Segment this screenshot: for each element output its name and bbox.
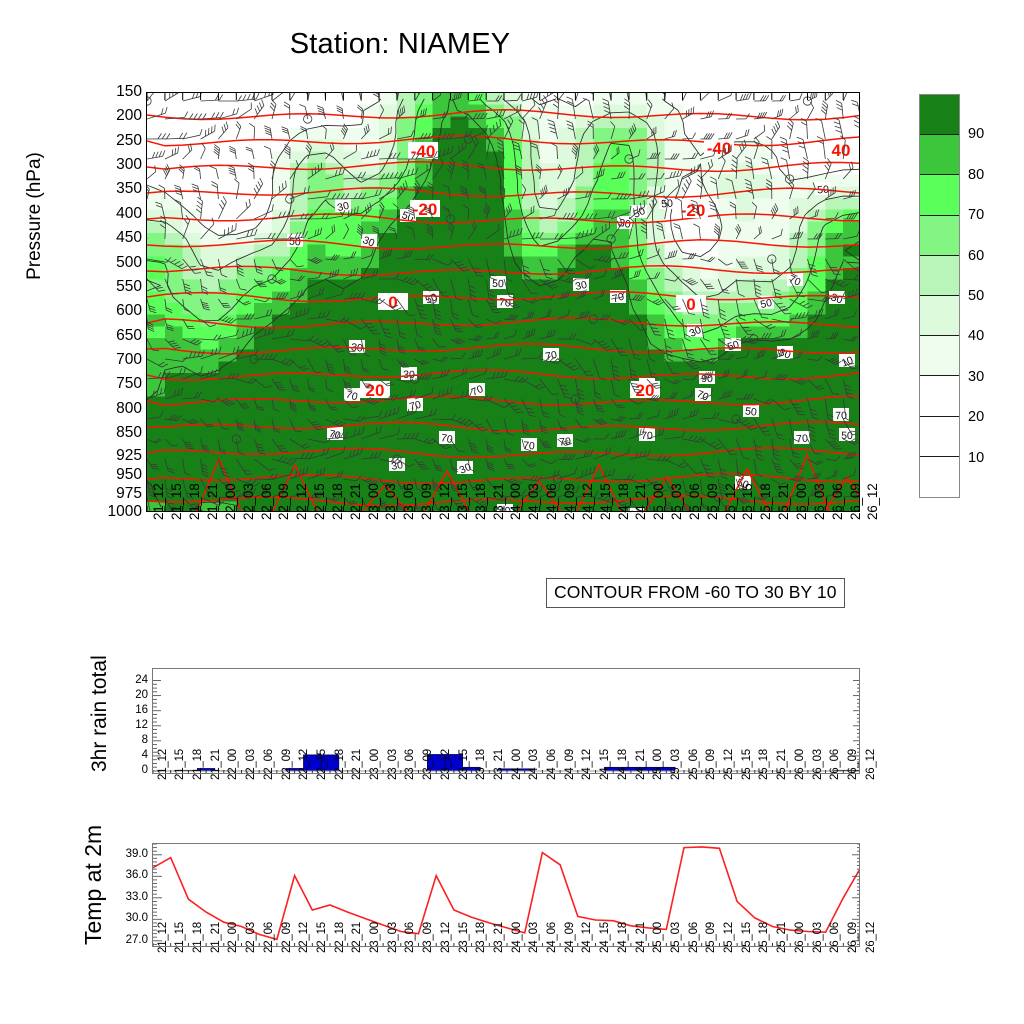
temp-x-tick: 22_03 (245, 922, 257, 953)
rain-x-tick: 25_03 (670, 749, 682, 780)
rain-x-tick: 23_18 (475, 749, 487, 780)
colorbar-tick: 90 (968, 126, 984, 142)
rain-x-tick: 24_18 (617, 749, 629, 780)
rain-x-tick: 26_06 (829, 749, 841, 780)
rain-x-tick: 25_12 (723, 749, 735, 780)
rain-y-tick: 12 (135, 719, 148, 731)
main-y-axis-title: Pressure (hPa) (24, 106, 46, 326)
main-x-tick: 21_18 (187, 483, 202, 520)
main-x-tick: 23_00 (366, 483, 381, 520)
rain-y-tick: 4 (142, 749, 148, 761)
temp-x-tick: 22_09 (281, 922, 293, 953)
temp-x-tick: 24_15 (599, 922, 611, 953)
main-y-tick: 400 (116, 205, 142, 223)
temp-x-tick: 21_15 (174, 922, 186, 953)
humidity-colorbar-labels: 908070605040302010 (968, 94, 1018, 498)
main-x-tick: 22_18 (330, 483, 345, 520)
main-x-tick: 21_21 (205, 483, 220, 520)
colorbar-band (920, 296, 959, 336)
svg-text:70: 70 (440, 432, 454, 446)
temp-x-tick: 22_06 (263, 922, 275, 953)
temp-x-tick: 23_09 (422, 922, 434, 953)
main-x-tick: 23_15 (455, 483, 470, 520)
rain-x-tick: 22_21 (351, 749, 363, 780)
temp-x-tick: 25_09 (705, 922, 717, 953)
temp-x-tick: 24_18 (617, 922, 629, 953)
svg-text:50: 50 (492, 278, 504, 290)
main-x-tick: 25_21 (776, 483, 791, 520)
temp-y-ticks (153, 844, 860, 947)
main-y-tick: 450 (116, 229, 142, 247)
colorbar-tick: 80 (968, 167, 984, 183)
temp-x-tick: 22_15 (316, 922, 328, 953)
main-x-tick: 24_21 (633, 483, 648, 520)
rain-x-tick: 22_00 (227, 749, 239, 780)
temp-x-tick: 22_18 (334, 922, 346, 953)
temp-x-tick: 26_09 (847, 922, 859, 953)
rain-x-tick: 23_09 (422, 749, 434, 780)
rain-x-tick: 22_18 (334, 749, 346, 780)
temp-x-tick: 22_21 (351, 922, 363, 953)
main-y-tick-labels: 1502002503003504004505005506006507007508… (96, 92, 142, 512)
rain-x-tick: 22_06 (263, 749, 275, 780)
svg-text:40: 40 (832, 141, 851, 160)
main-y-tick: 650 (116, 327, 142, 345)
humidity-colorbar (919, 94, 960, 498)
main-x-tick: 24_12 (580, 483, 595, 520)
temp-x-tick: 26_06 (829, 922, 841, 953)
temp-y-tick-labels: 27.030.033.036.039.0 (108, 843, 148, 947)
page-title: Station: NIAMEY (0, 28, 800, 61)
colorbar-band (920, 175, 959, 215)
main-y-tick: 800 (116, 400, 142, 418)
rain-y-tick: 20 (135, 689, 148, 701)
main-y-tick: 700 (116, 351, 142, 369)
main-x-tick: 23_06 (401, 483, 416, 520)
main-y-tick: 850 (116, 424, 142, 442)
rain-x-tick: 22_15 (316, 749, 328, 780)
main-x-tick: 23_09 (419, 483, 434, 520)
main-y-tick: 975 (116, 485, 142, 503)
rain-x-tick: 23_12 (440, 749, 452, 780)
temp-ticks (153, 943, 860, 947)
colorbar-band (920, 376, 959, 416)
svg-text:50: 50 (744, 405, 757, 418)
main-x-tick: 24_00 (508, 483, 523, 520)
rain-y-tick: 24 (135, 674, 148, 686)
temp-x-tick: 26_00 (794, 922, 806, 953)
svg-text:70: 70 (641, 430, 653, 442)
main-y-tick: 550 (116, 278, 142, 296)
temp-x-tick: 24_12 (581, 922, 593, 953)
temp-chart-panel (152, 843, 860, 947)
rain-y-tick: 16 (135, 704, 148, 716)
colorbar-tick: 40 (968, 328, 984, 344)
main-x-tick: 26_09 (848, 483, 863, 520)
temp-y-tick: 33.0 (126, 891, 148, 903)
sounding-cross-section-panel: 3050505050503050305030305070705070301070… (146, 92, 860, 512)
temp-x-tick: 23_15 (458, 922, 470, 953)
temp-chart-svg (153, 844, 860, 947)
rain-x-tick: 21_12 (157, 749, 169, 780)
main-x-tick: 23_03 (383, 483, 398, 520)
colorbar-band (920, 216, 959, 256)
colorbar-band (920, 336, 959, 376)
main-x-tick: 22_12 (294, 483, 309, 520)
temp-x-tick: 25_18 (758, 922, 770, 953)
rain-x-tick: 22_09 (281, 749, 293, 780)
rain-x-tick: 24_03 (528, 749, 540, 780)
rain-x-tick: 25_21 (776, 749, 788, 780)
main-x-tick: 24_03 (526, 483, 541, 520)
main-x-tick: 25_15 (740, 483, 755, 520)
main-y-tick: 300 (116, 156, 142, 174)
temp-x-tick: 25_06 (688, 922, 700, 953)
temp-x-tick: 25_15 (741, 922, 753, 953)
temp-y-tick: 27.0 (126, 934, 148, 946)
main-y-tick: 600 (116, 302, 142, 320)
main-x-tick: 23_18 (473, 483, 488, 520)
svg-text:0: 0 (388, 293, 397, 312)
rain-x-tick: 25_15 (741, 749, 753, 780)
temp-x-tick-labels: 21_1221_1521_1821_2122_0022_0322_0622_09… (152, 951, 860, 1024)
rain-x-tick: 21_21 (210, 749, 222, 780)
temp-x-tick: 26_03 (812, 922, 824, 953)
temp-y-tick: 30.0 (126, 912, 148, 924)
main-x-tick: 24_18 (616, 483, 631, 520)
main-x-tick: 25_03 (669, 483, 684, 520)
rain-x-tick: 22_03 (245, 749, 257, 780)
temp-x-tick: 22_00 (227, 922, 239, 953)
colorbar-tick: 50 (968, 288, 984, 304)
temp-x-tick: 24_06 (546, 922, 558, 953)
main-x-tick: 25_06 (687, 483, 702, 520)
temp-x-tick: 21_21 (210, 922, 222, 953)
temp-x-tick: 24_03 (528, 922, 540, 953)
rain-x-tick: 24_12 (581, 749, 593, 780)
temp-line (153, 847, 860, 940)
main-x-tick: 22_15 (312, 483, 327, 520)
main-x-tick: 24_15 (598, 483, 613, 520)
rain-x-tick: 25_00 (652, 749, 664, 780)
rain-x-tick: 25_06 (688, 749, 700, 780)
rain-x-tick: 24_15 (599, 749, 611, 780)
rain-x-tick: 26_09 (847, 749, 859, 780)
rain-x-tick: 23_06 (404, 749, 416, 780)
main-y-tick: 750 (116, 375, 142, 393)
svg-text:70: 70 (498, 296, 511, 310)
rain-x-tick: 23_15 (458, 749, 470, 780)
temp-x-tick: 25_03 (670, 922, 682, 953)
main-x-tick: 22_21 (348, 483, 363, 520)
main-x-tick: 22_06 (259, 483, 274, 520)
main-y-tick: 950 (116, 466, 142, 484)
rain-x-tick: 26_12 (865, 749, 877, 780)
rain-x-tick: 24_00 (511, 749, 523, 780)
svg-text:-20: -20 (681, 201, 706, 220)
main-x-tick: 22_00 (223, 483, 238, 520)
rain-x-tick: 25_09 (705, 749, 717, 780)
rain-y-tick-labels: 04812162024 (110, 668, 148, 774)
colorbar-tick: 60 (968, 248, 984, 264)
main-x-tick: 25_00 (651, 483, 666, 520)
main-x-tick: 26_12 (865, 483, 880, 520)
temp-y-axis-title: Temp at 2m (80, 825, 107, 945)
main-y-tick: 350 (116, 180, 142, 198)
svg-text:-40: -40 (707, 139, 732, 158)
rain-x-tick: 21_15 (174, 749, 186, 780)
main-y-tick: 500 (116, 254, 142, 272)
temp-x-tick: 22_12 (298, 922, 310, 953)
temp-x-tick: 23_00 (369, 922, 381, 953)
rain-x-tick: 24_06 (546, 749, 558, 780)
rain-x-tick: 26_00 (794, 749, 806, 780)
main-x-tick: 23_21 (491, 483, 506, 520)
main-y-tick: 250 (116, 132, 142, 150)
temp-y-tick: 36.0 (126, 869, 148, 881)
colorbar-tick: 10 (968, 450, 984, 466)
svg-text:30: 30 (390, 459, 404, 473)
main-y-tick: 150 (116, 83, 142, 101)
rain-x-tick: 21_18 (192, 749, 204, 780)
main-x-tick: 26_06 (830, 483, 845, 520)
rain-x-tick: 26_03 (812, 749, 824, 780)
temp-y-tick: 39.0 (126, 848, 148, 860)
rain-x-tick: 25_18 (758, 749, 770, 780)
rain-x-tick: 23_03 (387, 749, 399, 780)
rain-y-ticks (153, 681, 860, 772)
svg-text:70: 70 (523, 440, 536, 453)
temp-x-tick: 25_21 (776, 922, 788, 953)
main-y-tick: 200 (116, 107, 142, 125)
rain-y-tick: 8 (142, 734, 148, 746)
colorbar-band (920, 95, 959, 135)
main-x-tick: 25_12 (723, 483, 738, 520)
main-y-tick: 1000 (108, 503, 142, 521)
colorbar-band (920, 135, 959, 175)
colorbar-tick: 70 (968, 207, 984, 223)
colorbar-band (920, 417, 959, 457)
rain-x-tick: 24_09 (564, 749, 576, 780)
colorbar-tick: 20 (968, 409, 984, 425)
rain-x-tick: 23_00 (369, 749, 381, 780)
temp-x-tick: 23_03 (387, 922, 399, 953)
main-x-tick: 25_09 (705, 483, 720, 520)
meteogram-page: Station: NIAMEY Pressure (hPa) 150200250… (0, 0, 1024, 1024)
temp-x-tick: 25_12 (723, 922, 735, 953)
contour-note: CONTOUR FROM -60 TO 30 BY 10 (546, 578, 845, 608)
temp-x-tick: 21_18 (192, 922, 204, 953)
rain-x-tick: 22_12 (298, 749, 310, 780)
rain-y-axis-title: 3hr rain total (88, 655, 112, 772)
temp-x-tick: 24_00 (511, 922, 523, 953)
main-x-tick: 21_12 (151, 483, 166, 520)
temp-x-tick: 23_12 (440, 922, 452, 953)
temp-x-tick: 21_12 (157, 922, 169, 953)
svg-text:50: 50 (841, 430, 853, 442)
main-x-tick: 24_09 (562, 483, 577, 520)
main-x-tick: 23_12 (437, 483, 452, 520)
temp-x-tick: 23_18 (475, 922, 487, 953)
temp-x-tick: 26_12 (865, 922, 877, 953)
svg-text:70: 70 (796, 432, 809, 445)
main-plot-svg: 3050505050503050305030305070705070301070… (147, 93, 860, 512)
rain-x-tick: 23_21 (493, 749, 505, 780)
main-x-tick: 21_15 (169, 483, 184, 520)
colorbar-band (920, 457, 959, 497)
temp-x-tick: 24_09 (564, 922, 576, 953)
temp-x-tick: 24_21 (635, 922, 647, 953)
temp-x-tick: 23_06 (404, 922, 416, 953)
main-x-tick: 25_18 (758, 483, 773, 520)
temp-x-tick: 23_21 (493, 922, 505, 953)
colorbar-band (920, 256, 959, 296)
main-x-tick: 26_03 (812, 483, 827, 520)
main-x-tick: 24_06 (544, 483, 559, 520)
main-x-tick: 22_09 (276, 483, 291, 520)
main-y-tick: 925 (116, 447, 142, 465)
colorbar-tick: 30 (968, 369, 984, 385)
rain-chart-svg (153, 669, 860, 774)
main-plot-frame: 3050505050503050305030305070705070301070… (146, 92, 860, 512)
main-x-tick: 26_00 (794, 483, 809, 520)
temp-x-tick: 25_00 (652, 922, 664, 953)
main-x-tick: 22_03 (241, 483, 256, 520)
rain-chart-panel (152, 668, 860, 774)
rain-x-tick: 24_21 (635, 749, 647, 780)
rain-y-tick: 0 (142, 764, 148, 776)
